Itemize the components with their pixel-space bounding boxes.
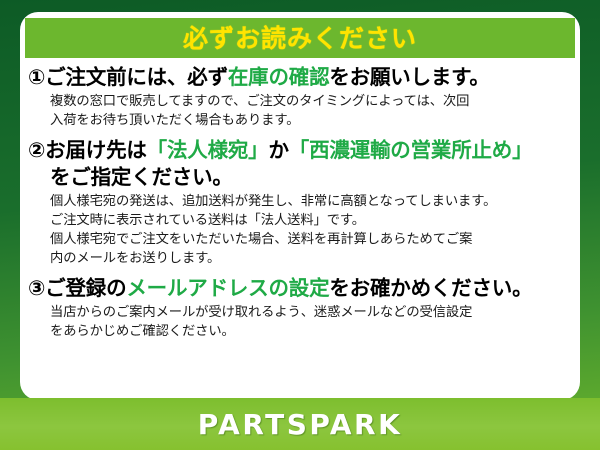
section-3-body-line-1: 当店からのご案内メールが受け取れるよう、迷惑メールなどの受信設定: [50, 303, 574, 322]
banner-title: 必ずお読みください: [183, 26, 417, 51]
section-3-heading-highlight: メールアドレスの設定: [126, 276, 329, 300]
section-3-number: ③: [28, 276, 45, 300]
section-2-body-line-2: ご注文時に表示されている送料は「法人送料」です。: [50, 211, 574, 230]
notice-section-3: ③ご登録のメールアドレスの設定をお確かめください。 当店からのご案内メールが受け…: [28, 275, 574, 342]
notice-image: 必ずお読みください ①ご注文前には、必ず在庫の確認をお願いします。 複数の窓口で…: [0, 0, 600, 450]
section-2-heading-highlight-1: 「法人様宛」: [147, 138, 269, 162]
section-2-heading-part1: お届け先は: [45, 138, 147, 162]
section-3-body: 当店からのご案内メールが受け取れるよう、迷惑メールなどの受信設定 をあらかじめご…: [50, 303, 574, 342]
section-1-heading-part1: ご注文前には、必ず: [45, 65, 228, 89]
section-1-number: ①: [28, 65, 45, 89]
section-3-heading: ③ご登録のメールアドレスの設定をお確かめください。: [28, 275, 574, 302]
section-3-heading-part1: ご登録の: [45, 276, 126, 300]
section-1-body: 複数の窓口で販売してますので、ご注文のタイミングによっては、次回 入荷をお待ち頂…: [50, 92, 574, 131]
section-1-heading-part2: をお願いします。: [329, 65, 489, 89]
section-2-body-line-3: 個人様宅宛でご注文をいただいた場合、送料を再計算しあらためてご案: [50, 230, 574, 249]
section-2-body-line-4: 内のメールをお送りします。: [50, 249, 574, 268]
section-2-heading-mid: か: [268, 138, 288, 162]
notice-section-1: ①ご注文前には、必ず在庫の確認をお願いします。 複数の窓口で販売してますので、ご…: [28, 64, 574, 131]
section-1-body-line-1: 複数の窓口で販売してますので、ご注文のタイミングによっては、次回: [50, 92, 574, 111]
notice-section-2: ②お届け先は「法人様宛」か「西濃運輸の営業所止め」をご指定ください。 個人様宅宛…: [28, 137, 574, 269]
title-banner: 必ずお読みください: [25, 18, 575, 58]
section-2-number: ②: [28, 138, 45, 162]
section-1-heading: ①ご注文前には、必ず在庫の確認をお願いします。: [28, 64, 574, 91]
section-3-heading-part2: をお確かめください。: [329, 276, 532, 300]
section-2-body-line-1: 個人様宅宛の発送は、追加送料が発生し、非常に高額となってしまいます。: [50, 192, 574, 211]
section-3-body-line-2: をあらかじめご確認ください。: [50, 322, 574, 341]
section-1-heading-highlight: 在庫の確認: [228, 65, 330, 89]
section-2-body: 個人様宅宛の発送は、追加送料が発生し、非常に高額となってしまいます。 ご注文時に…: [50, 192, 574, 269]
section-2-heading-part2: をご指定ください。: [50, 164, 574, 191]
section-2-heading-highlight-2: 「西濃運輸の営業所止め」: [289, 138, 533, 162]
section-1-body-line-2: 入荷をお待ち頂いただく場合もあります。: [50, 111, 574, 130]
brand-name: PARTSPARK: [198, 408, 403, 441]
footer-band: PARTSPARK: [0, 398, 600, 450]
section-2-heading: ②お届け先は「法人様宛」か「西濃運輸の営業所止め」をご指定ください。: [28, 137, 574, 191]
notice-sections: ①ご注文前には、必ず在庫の確認をお願いします。 複数の窓口で販売してますので、ご…: [20, 64, 580, 347]
content-panel: 必ずお読みください ①ご注文前には、必ず在庫の確認をお願いします。 複数の窓口で…: [20, 12, 580, 400]
